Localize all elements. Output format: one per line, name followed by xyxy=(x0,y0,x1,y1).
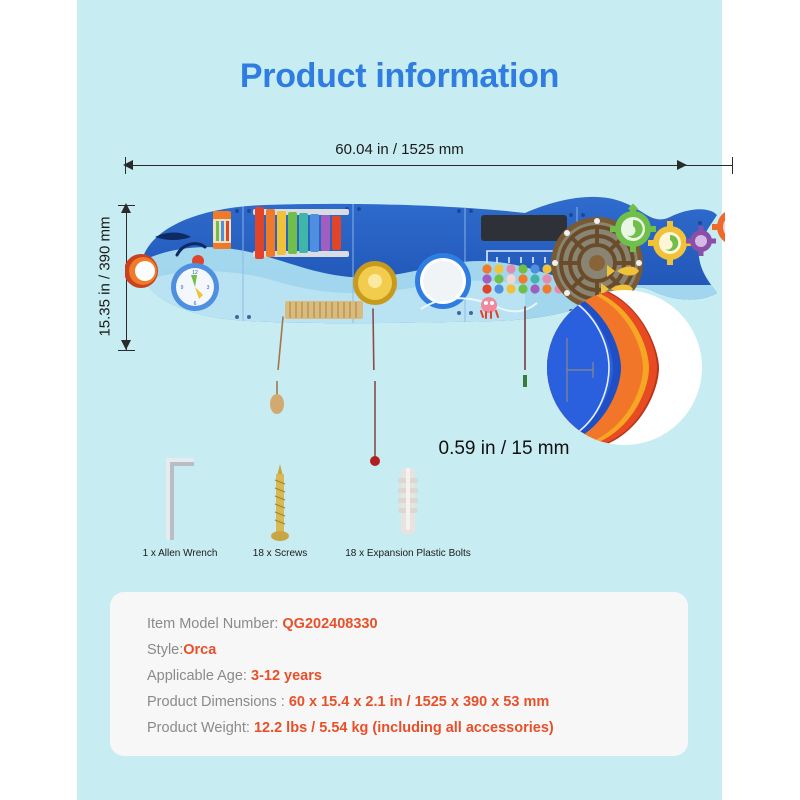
spec-row-style: Style:Orca xyxy=(147,642,216,658)
page-title: Product information xyxy=(77,57,722,96)
product-information-page: Product information 60.04 in / 1525 mm 1… xyxy=(0,0,800,800)
width-dimension-label: 60.04 in / 1525 mm xyxy=(77,141,722,158)
spec-label: Product Dimensions : xyxy=(147,694,289,710)
wooden-mallet-icon xyxy=(270,394,284,414)
spec-label: Item Model Number: xyxy=(147,616,282,632)
plastic-bolt-icon xyxy=(333,440,483,545)
spec-value: 12.2 lbs / 5.54 kg (including all access… xyxy=(254,720,554,736)
spec-label: Product Weight: xyxy=(147,720,254,736)
spec-row-age: Applicable Age: 3-12 years xyxy=(147,668,322,684)
spec-value: 60 x 15.4 x 2.1 in / 1525 x 390 x 53 mm xyxy=(289,694,549,710)
thickness-detail-inset xyxy=(547,290,702,445)
width-dimension-line xyxy=(125,165,733,166)
spec-row-model: Item Model Number: QG202408330 xyxy=(147,616,378,632)
spec-value: QG202408330 xyxy=(282,616,377,632)
specs-card: Item Model Number: QG202408330 Style:Orc… xyxy=(110,592,688,756)
width-arrow-right-icon xyxy=(677,160,687,170)
accessory-plastic-bolts: 18 x Expansion Plastic Bolts xyxy=(333,440,483,559)
spec-label: Applicable Age: xyxy=(147,668,251,684)
content-panel: Product information 60.04 in / 1525 mm 1… xyxy=(77,0,722,800)
spec-value: Orca xyxy=(183,642,216,658)
width-endcap-right xyxy=(732,157,733,174)
width-endcap-left xyxy=(125,157,126,174)
spec-value: 3-12 years xyxy=(251,668,322,684)
spec-label: Style: xyxy=(147,642,183,658)
height-dimension-label: 15.35 in / 390 mm xyxy=(97,197,114,357)
spec-row-weight: Product Weight: 12.2 lbs / 5.54 kg (incl… xyxy=(147,720,554,736)
spec-row-dimensions: Product Dimensions : 60 x 15.4 x 2.1 in … xyxy=(147,694,549,710)
